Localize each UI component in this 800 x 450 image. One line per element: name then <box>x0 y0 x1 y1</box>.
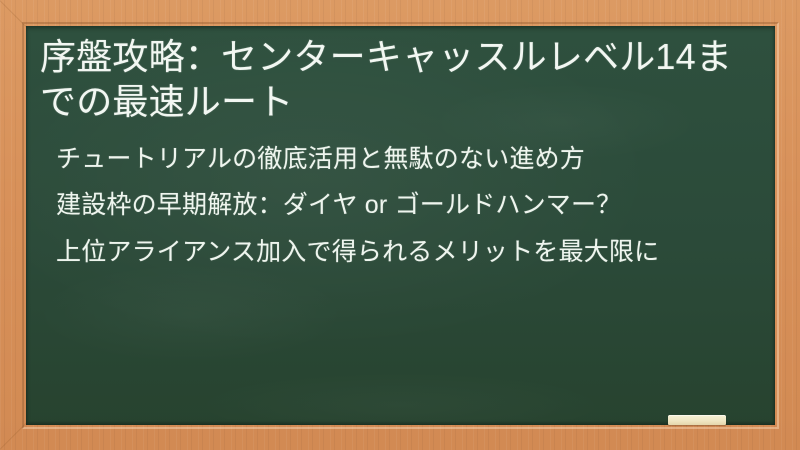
page-title: 序盤攻略：センターキャッスルレベル14までの最速ルート <box>40 34 759 125</box>
chalkboard-surface: 序盤攻略：センターキャッスルレベル14までの最速ルート チュートリアルの徹底活用… <box>26 26 775 425</box>
list-item: 建設枠の早期解放：ダイヤ or ゴールドハンマー？ <box>56 189 759 222</box>
list-item: チュートリアルの徹底活用と無駄のない進め方 <box>56 143 759 176</box>
chalk-stick-icon <box>668 415 726 425</box>
chalkboard-slide: 序盤攻略：センターキャッスルレベル14までの最速ルート チュートリアルの徹底活用… <box>0 0 800 450</box>
bullet-list: チュートリアルの徹底活用と無駄のない進め方 建設枠の早期解放：ダイヤ or ゴー… <box>40 143 759 269</box>
chalkboard-content: 序盤攻略：センターキャッスルレベル14までの最速ルート チュートリアルの徹底活用… <box>26 26 775 425</box>
list-item: 上位アライアンス加入で得られるメリットを最大限に <box>56 236 759 269</box>
